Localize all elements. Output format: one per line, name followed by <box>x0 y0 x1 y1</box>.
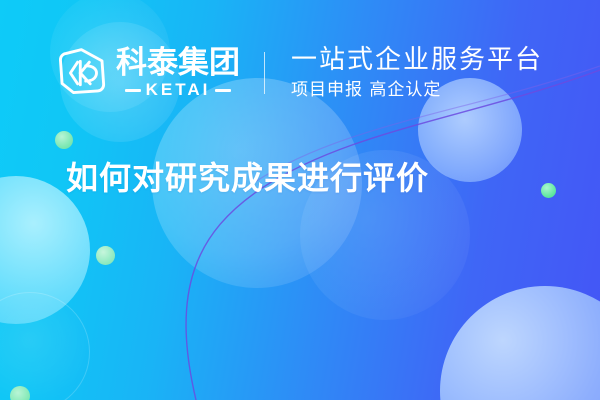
decor-mint-dot-d <box>10 386 30 400</box>
logo-dash-right-icon <box>215 89 231 92</box>
logo-company-latin: KETAI <box>146 81 211 99</box>
logo-company-cn: 科泰集团 <box>116 47 240 79</box>
logo-row: 科泰集团 KETAI <box>56 46 240 100</box>
brand-logo[interactable]: 科泰集团 KETAI <box>56 46 240 100</box>
logo-wordmark: 科泰集团 KETAI <box>116 47 240 99</box>
decor-circle-bottom-right <box>440 286 600 400</box>
decor-ring-bottom-left <box>0 292 90 400</box>
decor-circle-left-edge <box>0 176 90 324</box>
slogan-sub: 项目申报 高企认定 <box>291 79 543 101</box>
slogan-block: 一站式企业服务平台 项目申报 高企认定 <box>291 45 543 101</box>
banner-header: 科泰集团 KETAI 一站式企业服务平台 项目申报 高企认定 <box>56 38 543 108</box>
logo-dash-left-icon <box>125 89 141 92</box>
slogan-main: 一站式企业服务平台 <box>291 45 543 75</box>
decor-mint-dot-b <box>96 246 115 265</box>
decor-mint-dot-c <box>541 183 556 198</box>
page-title: 如何对研究成果进行评价 <box>66 158 429 198</box>
header-divider <box>264 52 265 94</box>
decor-mint-dot-a <box>55 131 73 149</box>
ketai-diamond-kd-monogram-icon <box>56 46 110 100</box>
logo-latin-row: KETAI <box>116 81 240 99</box>
promo-banner: 科泰集团 KETAI 一站式企业服务平台 项目申报 高企认定 如何对研究成果进行… <box>0 0 600 400</box>
